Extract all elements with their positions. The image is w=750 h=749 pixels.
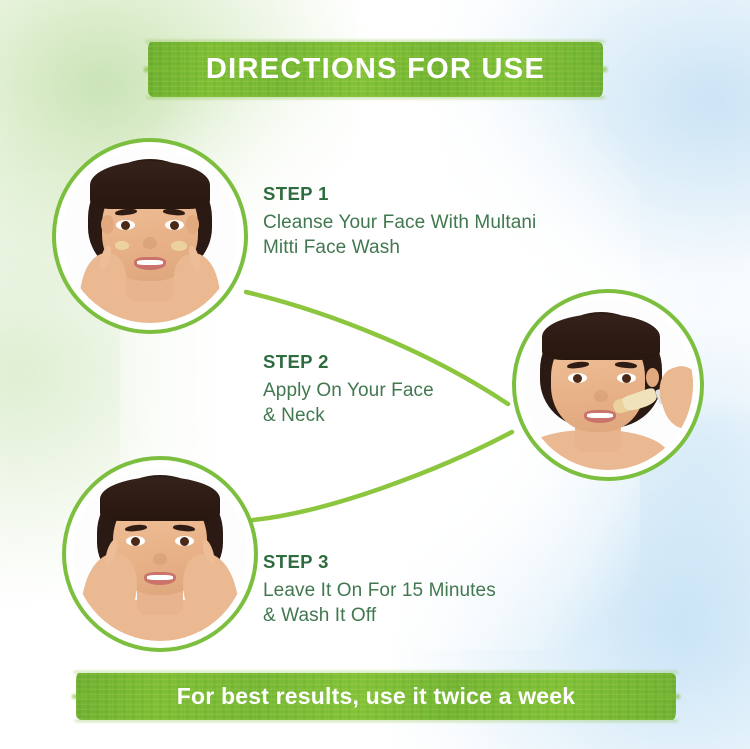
step-1-description-line-1: Cleanse Your Face With Multani bbox=[263, 210, 613, 235]
eye-left bbox=[126, 536, 145, 546]
step-2-description-line-1: Apply On Your Face bbox=[263, 378, 563, 403]
step-3-text-block: STEP 3 Leave It On For 15 Minutes & Wash… bbox=[263, 551, 593, 628]
eye-left bbox=[568, 373, 587, 383]
step-3-description: Leave It On For 15 Minutes & Wash It Off bbox=[263, 578, 593, 628]
page-title: DIRECTIONS FOR USE bbox=[206, 53, 545, 86]
connector-line-2-to-3 bbox=[253, 432, 512, 520]
ear-right bbox=[646, 368, 659, 387]
step-2-title: STEP 2 bbox=[263, 351, 563, 373]
mouth bbox=[144, 572, 176, 585]
eye-left bbox=[116, 220, 135, 230]
step-1-photo-circle bbox=[52, 138, 248, 334]
step-3-description-line-2: & Wash It Off bbox=[263, 603, 593, 628]
step-2-description-line-2: & Neck bbox=[263, 403, 563, 428]
step-2-text-block: STEP 2 Apply On Your Face & Neck bbox=[263, 351, 563, 428]
cleanser-dab-right bbox=[171, 241, 187, 251]
step-3-description-line-1: Leave It On For 15 Minutes bbox=[263, 578, 593, 603]
eye-right bbox=[617, 373, 636, 383]
step-3-title: STEP 3 bbox=[263, 551, 593, 573]
ear-right bbox=[186, 215, 199, 234]
portrait-cleansing bbox=[63, 149, 237, 323]
step-1-title: STEP 1 bbox=[263, 183, 613, 205]
mouth bbox=[584, 410, 616, 423]
step-1-photo bbox=[63, 149, 237, 323]
mouth bbox=[134, 257, 166, 270]
nose bbox=[594, 390, 608, 402]
step-2-description: Apply On Your Face & Neck bbox=[263, 378, 563, 428]
portrait-cupping-face bbox=[73, 467, 247, 641]
step-1-description: Cleanse Your Face With Multani Mitti Fac… bbox=[263, 210, 613, 260]
hair-front bbox=[90, 161, 210, 209]
step-1-text-block: STEP 1 Cleanse Your Face With Multani Mi… bbox=[263, 183, 613, 260]
footer-note: For best results, use it twice a week bbox=[177, 683, 576, 710]
hair-front bbox=[100, 477, 220, 521]
eye-right bbox=[165, 220, 184, 230]
step-3-photo-circle bbox=[62, 456, 258, 652]
ear-left bbox=[101, 215, 114, 234]
step-3-photo bbox=[73, 467, 247, 641]
cleanser-dab-left bbox=[115, 241, 129, 250]
nose bbox=[153, 553, 167, 565]
title-banner: DIRECTIONS FOR USE bbox=[148, 42, 603, 97]
footer-banner: For best results, use it twice a week bbox=[76, 673, 676, 720]
directions-for-use-poster: DIRECTIONS FOR USE bbox=[0, 0, 750, 749]
nose bbox=[143, 237, 157, 249]
step-1-description-line-2: Mitti Face Wash bbox=[263, 235, 613, 260]
eye-right bbox=[175, 536, 194, 546]
